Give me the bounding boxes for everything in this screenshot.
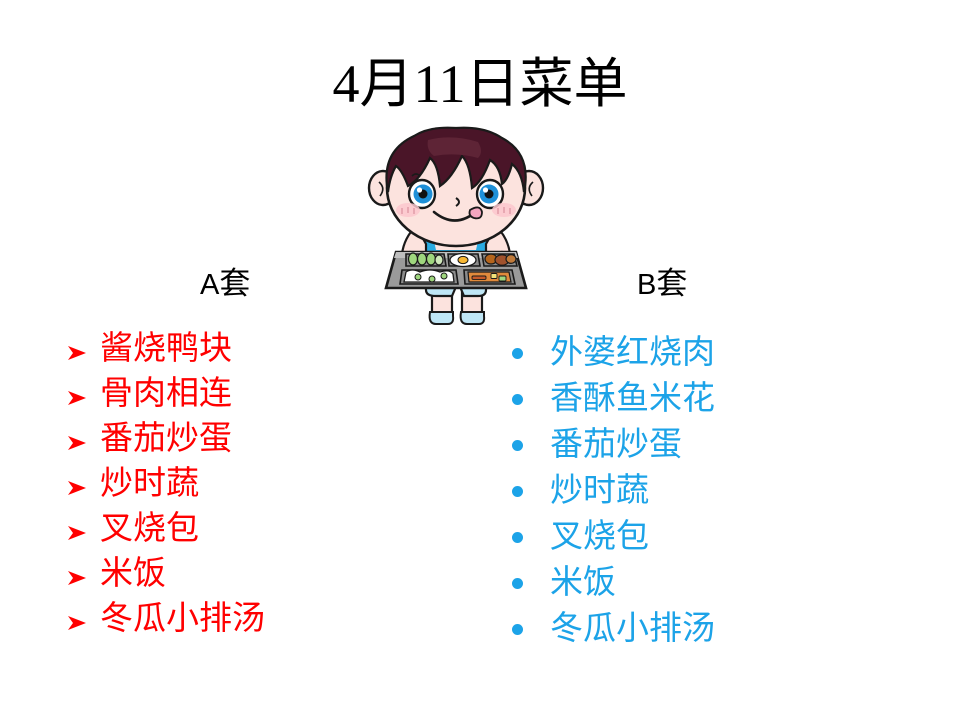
menu-item-label: 冬瓜小排汤 (538, 606, 715, 652)
list-item[interactable]: 骨肉相连 (66, 372, 265, 417)
menu-item-label: 叉烧包 (538, 514, 649, 560)
tongue-shape (470, 207, 483, 218)
round-bullet-icon (508, 336, 538, 382)
list-item[interactable]: 炒时蔬 (66, 462, 265, 507)
round-bullet-icon (508, 612, 538, 658)
menu-item-label: 番茄炒蛋 (96, 417, 232, 462)
menu-item-label: 炒时蔬 (538, 468, 649, 514)
menu-list-a: 酱烧鸭块 骨肉相连 番茄炒蛋 炒时蔬 叉烧包 米饭 冬瓜小排汤 (66, 327, 265, 642)
menu-item-label: 炒时蔬 (96, 462, 199, 507)
list-item[interactable]: 米饭 (66, 552, 265, 597)
menu-item-label: 酱烧鸭块 (96, 327, 232, 372)
list-item[interactable]: 米饭 (508, 560, 715, 606)
list-item[interactable]: 番茄炒蛋 (508, 422, 715, 468)
list-item[interactable]: 炒时蔬 (508, 468, 715, 514)
column-b-header: B套 (637, 266, 687, 303)
page-title: 4月11日菜单 (0, 52, 960, 116)
column-a-header-latin: A (200, 269, 219, 301)
vegetable-food (409, 253, 444, 265)
menu-item-label: 米饭 (96, 552, 166, 597)
column-a-header: A套 (200, 266, 250, 303)
menu-item-label: 米饭 (538, 560, 616, 606)
cartoon-boy-illustration (352, 126, 560, 326)
list-item[interactable]: 香酥鱼米花 (508, 376, 715, 422)
arrow-bullet-icon (66, 554, 96, 599)
menu-item-label: 香酥鱼米花 (538, 376, 715, 422)
arrow-bullet-icon (66, 464, 96, 509)
arrow-bullet-icon (66, 374, 96, 419)
menu-item-label: 冬瓜小排汤 (96, 597, 265, 642)
round-bullet-icon (508, 382, 538, 428)
lunch-tray-shape (386, 252, 526, 288)
arrow-bullet-icon (66, 329, 96, 374)
menu-list-b: 外婆红烧肉 香酥鱼米花 番茄炒蛋 炒时蔬 叉烧包 米饭 冬瓜小排汤 (508, 330, 715, 652)
round-bullet-icon (508, 428, 538, 474)
list-item[interactable]: 叉烧包 (66, 507, 265, 552)
menu-item-label: 骨肉相连 (96, 372, 232, 417)
menu-item-label: 番茄炒蛋 (538, 422, 682, 468)
list-item[interactable]: 冬瓜小排汤 (508, 606, 715, 652)
list-item[interactable]: 冬瓜小排汤 (66, 597, 265, 642)
column-a-header-cjk: 套 (219, 266, 250, 301)
list-item[interactable]: 酱烧鸭块 (66, 327, 265, 372)
column-b-header-latin: B (637, 269, 656, 301)
arrow-bullet-icon (66, 509, 96, 554)
arrow-bullet-icon (66, 599, 96, 644)
list-item[interactable]: 外婆红烧肉 (508, 330, 715, 376)
list-item[interactable]: 番茄炒蛋 (66, 417, 265, 462)
arrow-bullet-icon (66, 419, 96, 464)
round-bullet-icon (508, 474, 538, 520)
list-item[interactable]: 叉烧包 (508, 514, 715, 560)
round-bullet-icon (508, 520, 538, 566)
round-bullet-icon (508, 566, 538, 612)
menu-slide: 4月11日菜单 (0, 0, 960, 720)
meat-food (485, 254, 516, 265)
column-b-header-cjk: 套 (656, 266, 687, 301)
menu-item-label: 外婆红烧肉 (538, 330, 715, 376)
menu-item-label: 叉烧包 (96, 507, 199, 552)
